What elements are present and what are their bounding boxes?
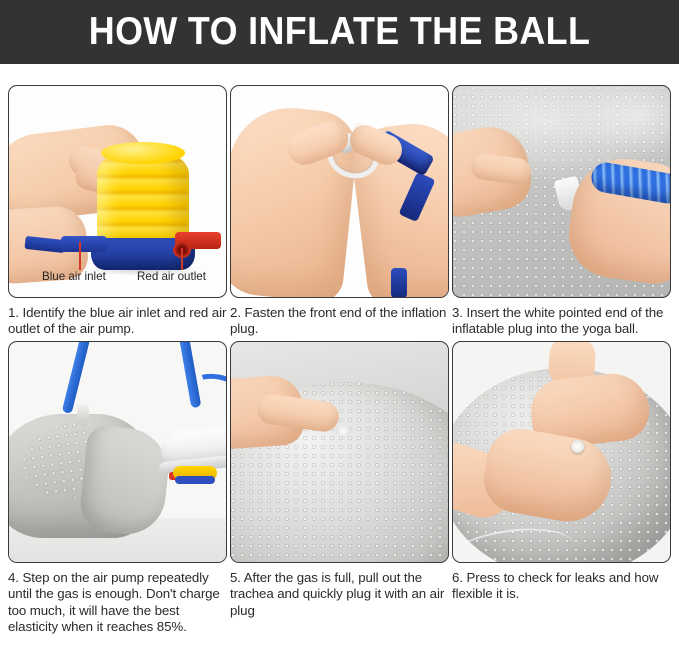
step-card-2: 2. Fasten the front end of the inflation… [230,85,449,338]
step-4-caption: 4. Step on the air pump repeatedly until… [8,570,227,636]
step-3-photo [452,85,671,298]
blue-air-inlet [61,236,107,252]
step-4-photo [8,341,227,563]
step-card-6: 6. Press to check for leaks and how flex… [452,341,671,636]
ball-valve-neck [77,404,89,422]
step-card-3: 3. Insert the white pointed end of the i… [452,85,671,338]
nozzle-shaft [391,268,407,298]
step-6-photo [452,341,671,563]
red-air-outlet-label: Red air outlet [137,270,206,283]
step-5-photo [230,341,449,563]
step-card-5: 5. After the gas is full, pull out the t… [230,341,449,636]
step-3-caption: 3. Insert the white pointed end of the i… [452,305,671,338]
pump-base [175,476,215,484]
step-2-caption: 2. Fasten the front end of the inflation… [230,305,449,338]
step-1-caption: 1. Identify the blue air inlet and red a… [8,305,227,338]
pointer-line-inlet [79,242,81,270]
blue-tube [62,341,91,414]
air-plug [571,440,584,453]
step-card-1: Blue air inlet Red air outlet 1. Identif… [8,85,227,338]
header-bar: HOW TO INFLATE THE BALL [0,0,679,64]
air-plug [335,426,351,436]
step-5-caption: 5. After the gas is full, pull out the t… [230,570,449,619]
step-1-photo: Blue air inlet Red air outlet [8,85,227,298]
pump-top [101,142,185,164]
step-card-4: 4. Step on the air pump repeatedly until… [8,341,227,636]
step-6-caption: 6. Press to check for leaks and how flex… [452,570,671,603]
pointer-line-outlet [181,248,183,270]
infographic-page: HOW TO INFLATE THE BALL Blue air inlet [0,0,679,658]
step-2-photo [230,85,449,298]
page-title: HOW TO INFLATE THE BALL [89,10,590,54]
blue-air-inlet-label: Blue air inlet [42,270,106,283]
steps-grid: Blue air inlet Red air outlet 1. Identif… [8,85,671,635]
